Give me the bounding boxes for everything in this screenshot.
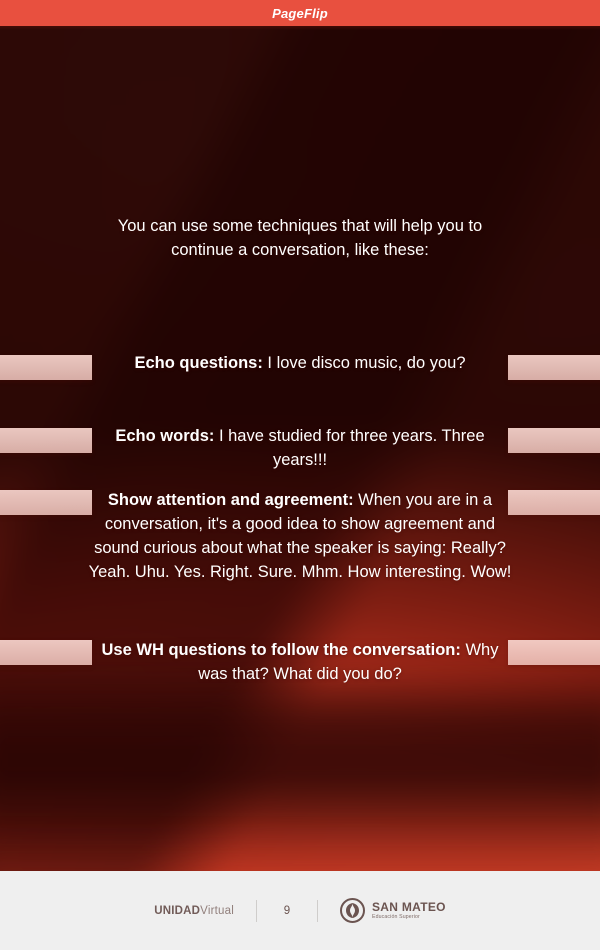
tip-4: Use WH questions to follow the conversat… [85, 638, 515, 686]
slide-stage[interactable]: You can use some techniques that will he… [0, 26, 600, 871]
app-header-bar: PageFlip [0, 0, 600, 26]
tip-1-label: Echo questions: [134, 354, 262, 372]
tip-1: Echo questions: I love disco music, do y… [90, 351, 510, 375]
header-shadow [0, 26, 600, 30]
unidad-virtual-light: Virtual [200, 905, 234, 917]
tip-1-body: I love disco music, do you? [263, 354, 466, 372]
page-number: 9 [279, 905, 295, 917]
san-mateo-tagline: Educación Superior [372, 915, 446, 920]
app-title: PageFlip [272, 6, 328, 21]
tip-3: Show attention and agreement: When you a… [85, 488, 515, 584]
intro-paragraph: You can use some techniques that will he… [96, 214, 504, 262]
slide-content: You can use some techniques that will he… [0, 26, 600, 871]
tip-2-body: I have studied for three years. Three ye… [214, 427, 484, 469]
san-mateo-wordmark: SAN MATEO Educación Superior [372, 901, 446, 920]
san-mateo-name: SAN MATEO [372, 901, 446, 913]
unidad-virtual-logo: UNIDADVirtual [154, 905, 234, 917]
pageflip-viewer: PageFlip You can use some techniques tha… [0, 0, 600, 950]
footer-content: UNIDADVirtual 9 SAN MATEO Educación Supe… [154, 898, 446, 923]
san-mateo-mark-icon [340, 898, 365, 923]
tip-3-label: Show attention and agreement: [108, 491, 354, 509]
footer-bar: UNIDADVirtual 9 SAN MATEO Educación Supe… [0, 871, 600, 950]
footer-divider-left [256, 900, 257, 922]
tip-4-label: Use WH questions to follow the conversat… [102, 641, 461, 659]
footer-divider-right [317, 900, 318, 922]
tip-2: Echo words: I have studied for three yea… [90, 424, 510, 472]
unidad-virtual-bold: UNIDAD [154, 905, 200, 917]
tip-2-label: Echo words: [115, 427, 214, 445]
san-mateo-logo: SAN MATEO Educación Superior [340, 898, 446, 923]
